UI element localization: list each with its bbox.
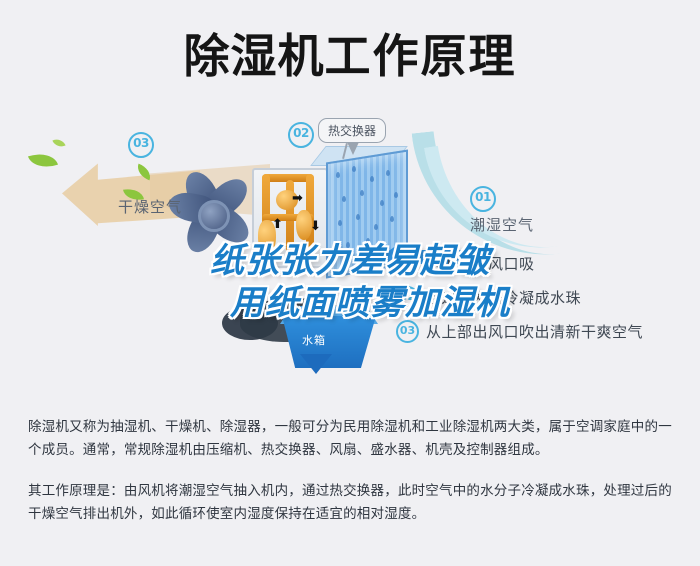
label-humid-air: 潮湿空气 bbox=[470, 214, 534, 235]
step-list: 01 从下部进风口吸 02 经过蒸发器冷凝成水珠 03 从上部出风口吹出清新干爽… bbox=[396, 252, 696, 354]
list-item: 01 从下部进风口吸 bbox=[396, 252, 696, 275]
label-dry-air: 干燥空气 bbox=[118, 196, 182, 217]
paragraph-1: 除湿机又称为抽湿机、干燥机、除湿器，一般可分为民用除湿机和工业除湿机两大类，属于… bbox=[28, 416, 676, 462]
fan-hub bbox=[198, 200, 230, 232]
title-text: 除湿机工作原理 bbox=[184, 28, 517, 84]
title-part-1: 除湿机 bbox=[184, 29, 325, 83]
list-item: 02 经过蒸发器冷凝成水珠 bbox=[396, 286, 696, 309]
page-title: 除湿机工作原理 bbox=[0, 28, 700, 84]
flow-arrow-up-icon: ⬆ bbox=[272, 218, 283, 231]
list-item: 03 从上部出风口吹出清新干爽空气 bbox=[396, 320, 696, 343]
step-badge: 03 bbox=[396, 320, 419, 343]
paragraph-2: 其工作原理是：由风机将潮湿空气抽入机内，通过热交换器，此时空气中的水分子冷凝成水… bbox=[28, 480, 676, 526]
step-text: 经过蒸发器冷凝成水珠 bbox=[426, 287, 581, 308]
badge-humid-air: 01 bbox=[470, 186, 496, 212]
water-tank-label: 水箱 bbox=[302, 332, 326, 348]
step-badge: 01 bbox=[396, 252, 419, 275]
flow-arrow-right-icon: ➡ bbox=[292, 192, 303, 205]
title-part-2: 工作原理 bbox=[325, 29, 517, 83]
water-drain-arrow-icon bbox=[300, 354, 332, 374]
flow-arrow-down-icon: ⬇ bbox=[310, 220, 321, 233]
body-copy: 除湿机又称为抽湿机、干燥机、除湿器，一般可分为民用除湿机和工业除湿机两大类，属于… bbox=[28, 416, 676, 526]
badge-dry-air: 03 bbox=[128, 132, 154, 158]
badge-heat-exchanger: 02 bbox=[288, 122, 314, 148]
leaf-icon bbox=[52, 136, 65, 149]
callout-heat-exchanger: 热交换器 bbox=[318, 118, 386, 143]
step-badge: 02 bbox=[396, 286, 419, 309]
step-text: 从上部出风口吹出清新干爽空气 bbox=[426, 321, 643, 342]
leaf-icon bbox=[28, 148, 58, 172]
step-text: 从下部进风口吸 bbox=[426, 253, 535, 274]
infographic-page: 除湿机工作原理 ➡ ⬆ ⬇ bbox=[0, 0, 700, 566]
